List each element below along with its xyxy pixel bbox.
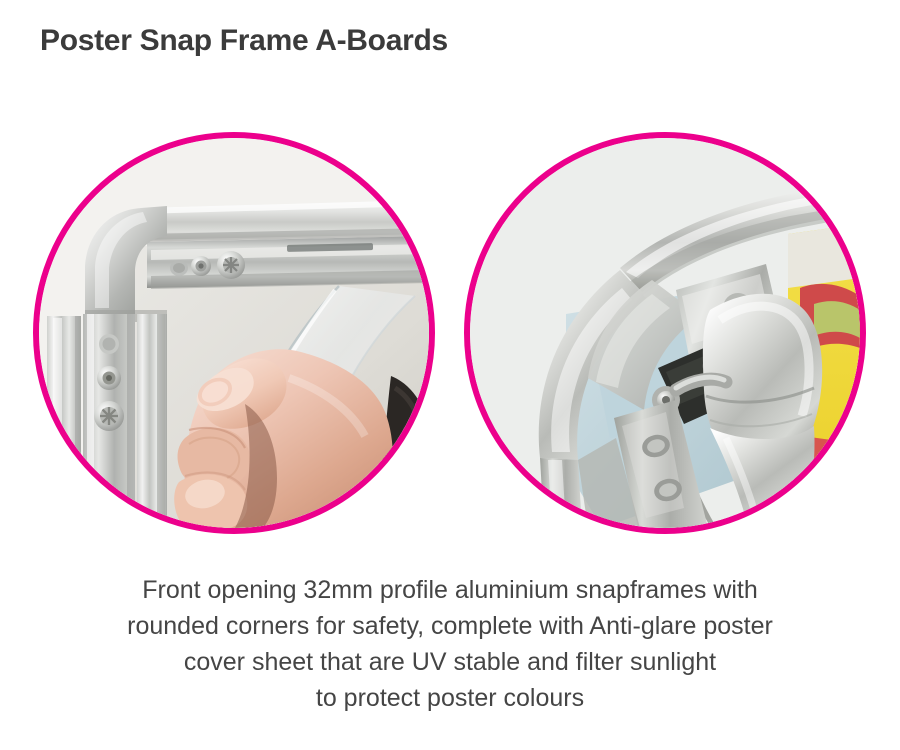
- caption-line-3: cover sheet that are UV stable and filte…: [60, 644, 840, 680]
- caption-line-2: rounded corners for safety, complete wit…: [60, 608, 840, 644]
- a-board-hinge-corner-illustration: [470, 138, 860, 528]
- photo-clip-right: [470, 138, 860, 528]
- page-title: Poster Snap Frame A-Boards: [40, 20, 448, 62]
- caption-line-4: to protect poster colours: [60, 680, 840, 716]
- product-photo-hinge-corner: [464, 132, 866, 534]
- photo-clip-left: [39, 138, 429, 528]
- product-description: Front opening 32mm profile aluminium sna…: [60, 572, 840, 716]
- caption-line-1: Front opening 32mm profile aluminium sna…: [60, 572, 840, 608]
- cover-sheet-peel-illustration: [39, 138, 429, 528]
- poster-snap-frame-panel: Poster Snap Frame A-Boards: [0, 0, 900, 750]
- product-photo-cover-sheet-peel: [33, 132, 435, 534]
